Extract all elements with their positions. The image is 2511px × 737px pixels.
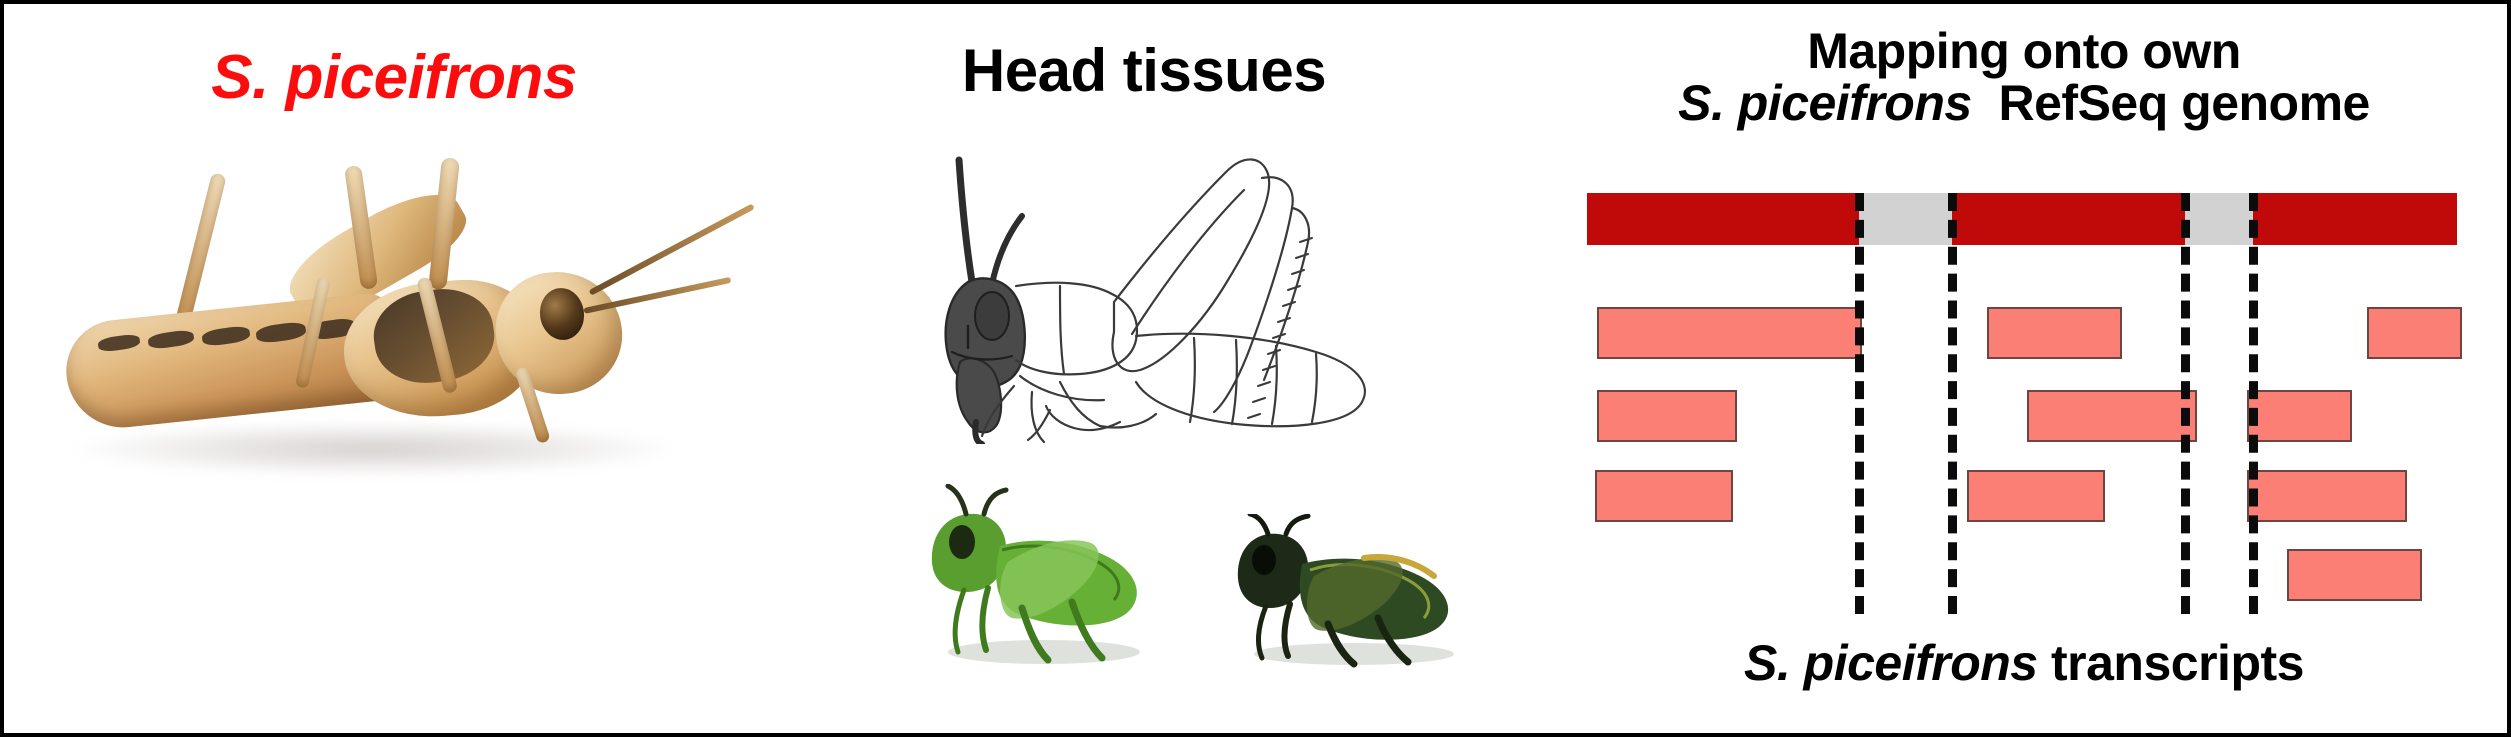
transcript-alignment-area xyxy=(1587,193,2457,623)
transcripts-label-species: S. piceifrons xyxy=(1744,635,2038,691)
grasshopper-photo-icon xyxy=(44,122,764,522)
photo-shadow xyxy=(74,422,674,476)
transcripts-label-rest: transcripts xyxy=(2051,635,2304,691)
mapping-title-line2: S. piceifrons RefSeq genome xyxy=(1544,74,2504,132)
dark-nymph-icon xyxy=(1214,514,1484,669)
transcript-bar xyxy=(2287,549,2422,601)
transcript-bar xyxy=(1987,307,2122,359)
graphical-abstract-figure: S. piceifrons Head tissues xyxy=(0,0,2511,737)
transcript-bar xyxy=(1595,470,1733,522)
grasshopper-lineart-icon xyxy=(864,134,1524,444)
transcript-bar xyxy=(2247,470,2407,522)
mapping-title-line1: Mapping onto own xyxy=(1544,22,2504,80)
hind-tibia xyxy=(174,172,227,331)
transcripts-label: S. piceifrons transcripts xyxy=(1544,634,2504,692)
head-tissues-title: Head tissues xyxy=(794,36,1494,105)
mapping-title-refseq: RefSeq genome xyxy=(1999,75,2370,131)
transcript-bar xyxy=(2027,390,2197,442)
transcript-bar xyxy=(1967,470,2105,522)
transcript-bar xyxy=(1597,390,1737,442)
species-title: S. piceifrons xyxy=(4,42,784,113)
transcript-bar xyxy=(2247,390,2352,442)
transcript-bar xyxy=(2367,307,2462,359)
mapping-title-species: S. piceifrons xyxy=(1678,75,1972,131)
green-nymph-icon xyxy=(904,484,1174,669)
transcript-bar xyxy=(1597,307,1862,359)
